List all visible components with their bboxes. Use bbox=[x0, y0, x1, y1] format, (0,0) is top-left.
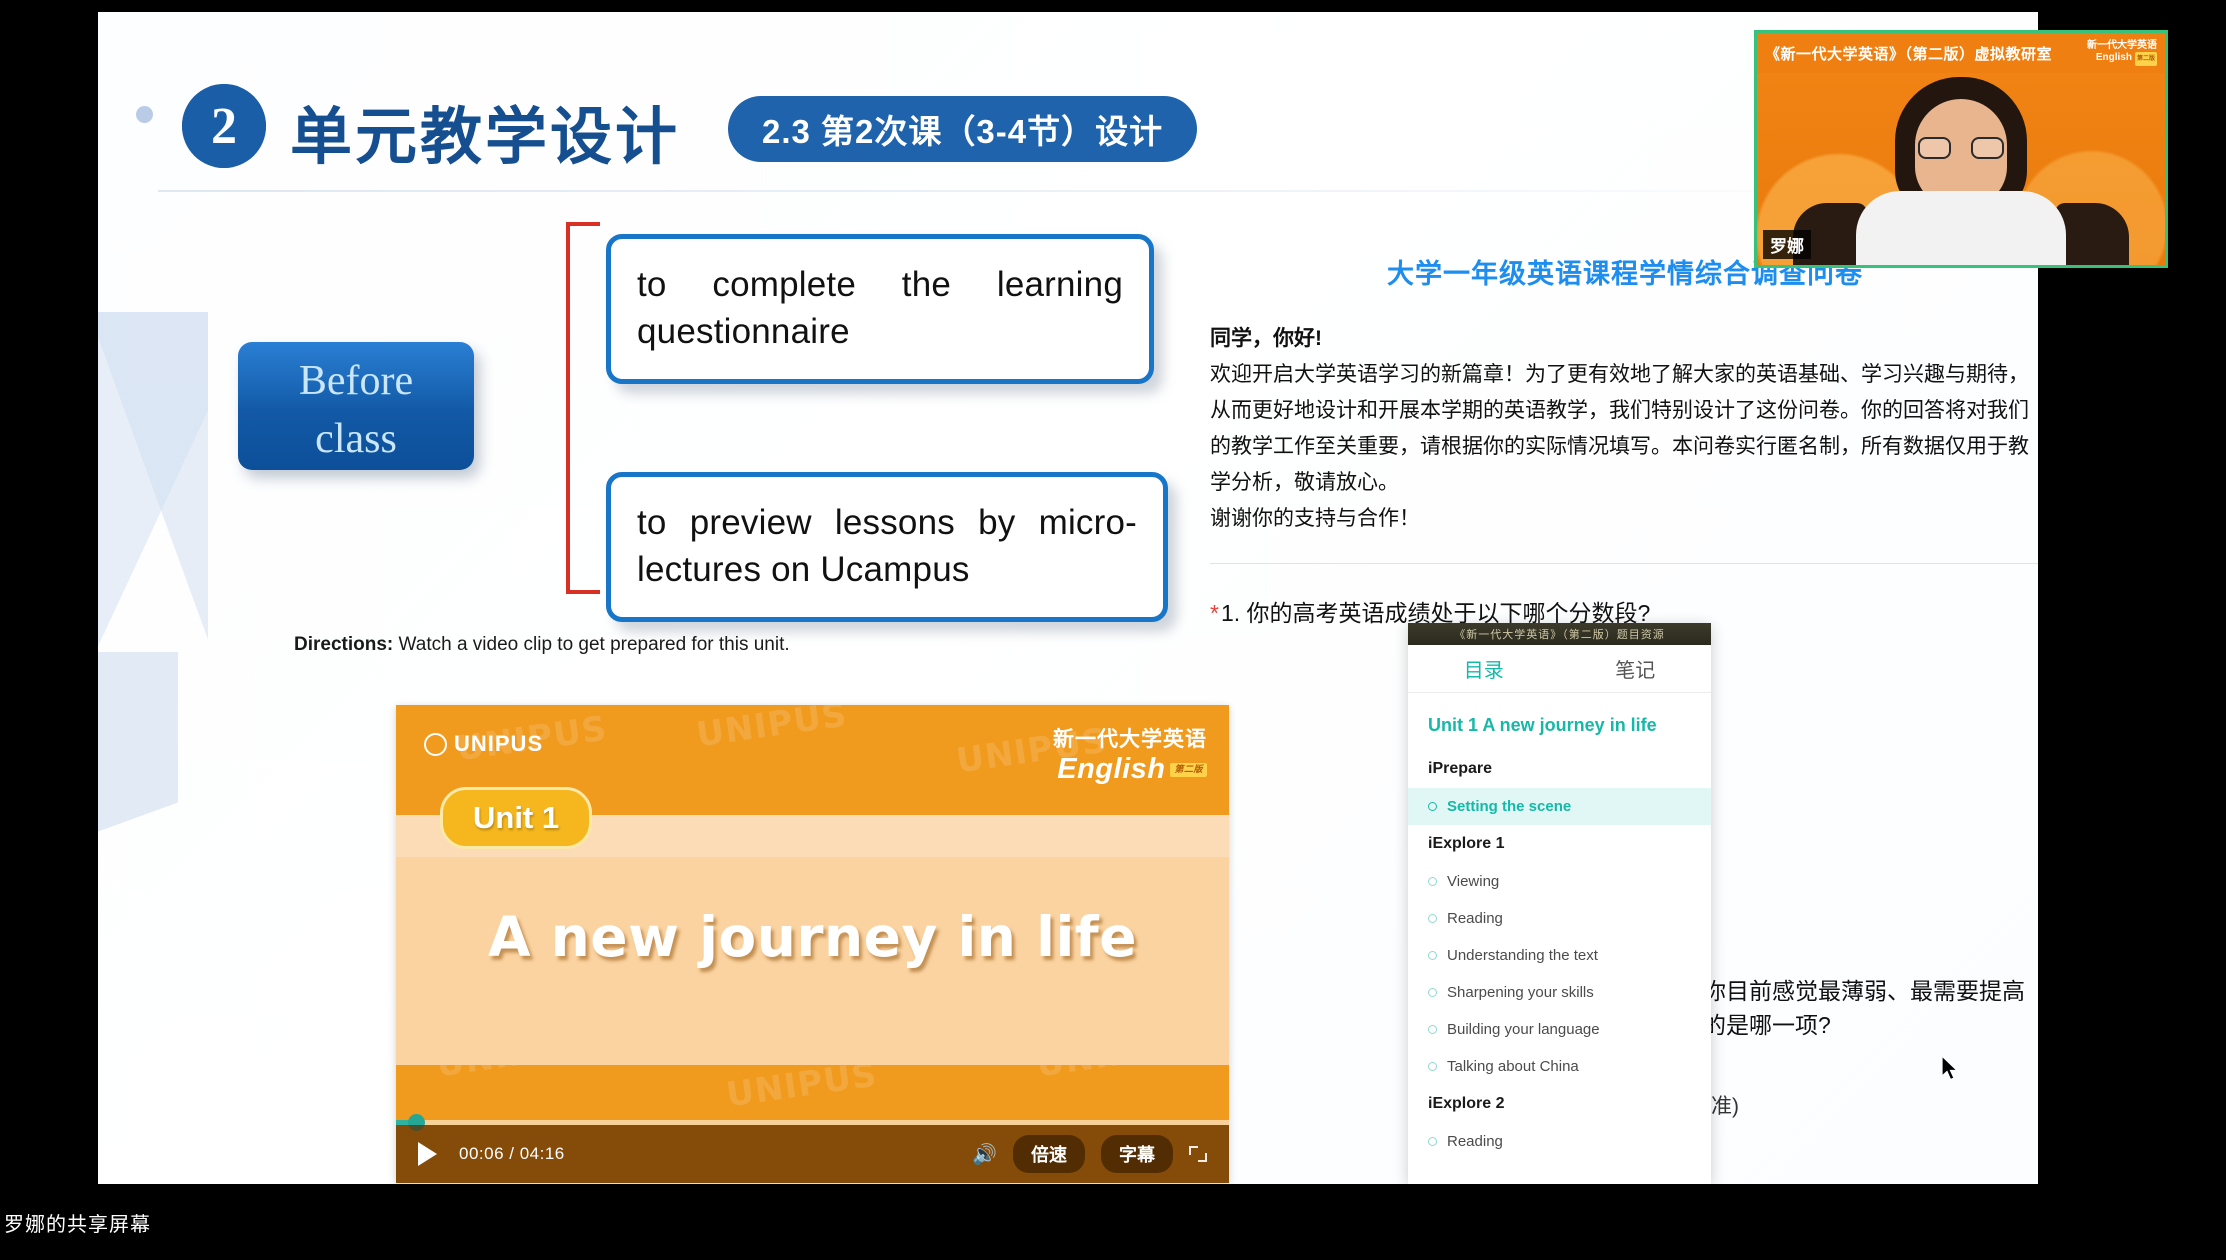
slide-header: 2 单元教学设计 2.3 第2次课（3-4节）设计 bbox=[98, 70, 2038, 198]
toc-item-reading-2[interactable]: Reading bbox=[1408, 1123, 1711, 1160]
ienglish-cn: 新一代大学英语 bbox=[1053, 723, 1207, 753]
questionnaire-paragraph: 欢迎开启大学英语学习的新篇章！为了更有效地了解大家的英语基础、学习兴趣与期待，从… bbox=[1210, 357, 2038, 501]
stage-label-line2: class bbox=[238, 410, 474, 468]
toc-item-setting-the-scene[interactable]: Setting the scene bbox=[1408, 788, 1711, 825]
ienglish-en: English bbox=[1057, 753, 1165, 785]
directions-label: Directions: bbox=[294, 634, 393, 655]
questionnaire-divider bbox=[1210, 563, 2038, 564]
video-unit-chip: Unit 1 bbox=[440, 787, 592, 849]
toc-item-label: Talking about China bbox=[1447, 1058, 1579, 1075]
questionnaire-panel: 大学一年级英语课程学情综合调查问卷 同学，你好! 欢迎开启大学英语学习的新篇章！… bbox=[1210, 252, 2038, 628]
questionnaire-extra-question: 你目前感觉最薄弱、最需要提高的是哪一项? bbox=[1703, 972, 2038, 1040]
unipus-ring-icon bbox=[424, 733, 447, 756]
directions-text: Watch a video clip to get prepared for t… bbox=[399, 634, 790, 655]
play-icon[interactable] bbox=[418, 1142, 437, 1166]
red-bracket bbox=[566, 222, 600, 594]
callout-box-task-2: to preview lessons by micro-lectures on … bbox=[606, 472, 1168, 622]
frame-left bbox=[0, 0, 98, 1260]
toc-tabs: 目录 笔记 bbox=[1408, 645, 1711, 693]
ienglish-edition-chip: 第二版 bbox=[1170, 763, 1207, 777]
circle-icon bbox=[1428, 1137, 1437, 1146]
presenter-name-label: 罗娜 bbox=[1763, 230, 1811, 259]
webcam-brand-en: English bbox=[2096, 52, 2132, 63]
questionnaire-greeting: 同学，你好! bbox=[1210, 321, 2038, 357]
required-mark: * bbox=[1210, 600, 1219, 626]
toc-unit-title[interactable]: Unit 1 A new journey in life bbox=[1408, 707, 1711, 750]
webcam-banner: 《新一代大学英语》（第二版）虚拟教研室 新一代大学英语 English第二版 bbox=[1757, 33, 2165, 73]
circle-icon bbox=[1428, 1025, 1437, 1034]
screen-share-window: 2 单元教学设计 2.3 第2次课（3-4节）设计 Before class t… bbox=[0, 0, 2226, 1260]
circle-icon bbox=[1428, 802, 1437, 811]
toc-item-building-your-language[interactable]: Building your language bbox=[1408, 1011, 1711, 1048]
watermark: UNIPUS bbox=[694, 705, 850, 755]
course-contents-panel[interactable]: 《新一代大学英语》（第二版）题目资源 目录 笔记 Unit 1 A new jo… bbox=[1408, 623, 1711, 1184]
webcam-brand-cn: 新一代大学英语 bbox=[2087, 40, 2157, 52]
bullet-dot-icon bbox=[136, 106, 153, 123]
toc-item-label: Setting the scene bbox=[1447, 798, 1571, 815]
questionnaire-text-fragment: 准) bbox=[1711, 1090, 1739, 1120]
stage-label-line1: Before bbox=[238, 352, 474, 410]
circle-icon bbox=[1428, 1062, 1437, 1071]
circle-icon bbox=[1428, 951, 1437, 960]
volume-icon[interactable]: 🔊 bbox=[972, 1142, 997, 1167]
circle-icon bbox=[1428, 877, 1437, 886]
toc-item-label: Viewing bbox=[1447, 873, 1499, 890]
header-divider bbox=[158, 190, 1998, 192]
toc-item-label: Reading bbox=[1447, 1133, 1503, 1150]
glasses-icon bbox=[1918, 137, 2004, 159]
toc-item-label: Reading bbox=[1447, 910, 1503, 927]
tab-notes[interactable]: 笔记 bbox=[1560, 645, 1712, 692]
video-player[interactable]: UNIPUS UNIPUS UNIPUS UNIPUS UNIPUS UNIPU… bbox=[396, 705, 1229, 1183]
fullscreen-icon[interactable] bbox=[1189, 1146, 1207, 1162]
callout-text-1: to complete the learning questionnaire bbox=[637, 261, 1123, 355]
frame-top bbox=[0, 0, 2226, 12]
stage-label-before-class: Before class bbox=[238, 342, 474, 470]
callout-text-2: to preview lessons by micro-lectures on … bbox=[637, 499, 1137, 593]
toc-item-talking-about-china[interactable]: Talking about China bbox=[1408, 1048, 1711, 1085]
webcam-banner-brand: 新一代大学英语 English第二版 bbox=[2087, 40, 2157, 66]
slide-decoration-secondary bbox=[98, 652, 178, 982]
video-control-bar: 00:06 / 04:16 🔊 倍速 字幕 bbox=[396, 1125, 1229, 1183]
page-title: 单元教学设计 bbox=[290, 86, 680, 176]
toc-section-iprepare[interactable]: iPrepare bbox=[1408, 750, 1711, 788]
directions-line: Directions: Watch a video clip to get pr… bbox=[294, 634, 790, 656]
subtitle-button[interactable]: 字幕 bbox=[1101, 1135, 1173, 1173]
video-title: A new journey in life bbox=[396, 905, 1229, 969]
toc-item-label: Sharpening your skills bbox=[1447, 984, 1594, 1001]
circle-icon bbox=[1428, 988, 1437, 997]
subsection-pill: 2.3 第2次课（3-4节）设计 bbox=[728, 96, 1197, 162]
share-status-label: 罗娜的共享屏幕 bbox=[4, 1208, 151, 1237]
presenter-torso bbox=[1856, 191, 2066, 265]
playback-speed-button[interactable]: 倍速 bbox=[1013, 1135, 1085, 1173]
questionnaire-closing: 谢谢你的支持与合作！ bbox=[1210, 501, 2038, 537]
webcam-overlay[interactable]: 《新一代大学英语》（第二版）虚拟教研室 新一代大学英语 English第二版 罗… bbox=[1754, 30, 2168, 268]
webcam-brand-chip: 第二版 bbox=[2135, 52, 2157, 66]
presentation-slide: 2 单元教学设计 2.3 第2次课（3-4节）设计 Before class t… bbox=[98, 12, 2038, 1184]
toc-section-iexplore-2[interactable]: iExplore 2 bbox=[1408, 1085, 1711, 1123]
toc-item-understanding-the-text[interactable]: Understanding the text bbox=[1408, 937, 1711, 974]
callout-box-task-1: to complete the learning questionnaire bbox=[606, 234, 1154, 384]
unipus-wordmark: UNIPUS bbox=[454, 731, 543, 757]
tab-contents[interactable]: 目录 bbox=[1408, 645, 1560, 692]
unipus-logo: UNIPUS bbox=[424, 731, 543, 757]
toc-list: Unit 1 A new journey in life iPrepare Se… bbox=[1408, 693, 1711, 1160]
presenter-shoulder-right bbox=[2055, 203, 2129, 265]
toc-section-iexplore-1[interactable]: iExplore 1 bbox=[1408, 825, 1711, 863]
toc-item-label: Understanding the text bbox=[1447, 947, 1598, 964]
questionnaire-body: 同学，你好! 欢迎开启大学英语学习的新篇章！为了更有效地了解大家的英语基础、学习… bbox=[1210, 321, 2038, 537]
webcam-banner-title: 《新一代大学英语》（第二版）虚拟教研室 bbox=[1765, 43, 2052, 64]
circle-icon bbox=[1428, 914, 1437, 923]
toc-item-reading[interactable]: Reading bbox=[1408, 900, 1711, 937]
toc-item-viewing[interactable]: Viewing bbox=[1408, 863, 1711, 900]
share-status-bar: 罗娜的共享屏幕 bbox=[0, 1184, 2226, 1260]
section-number-badge: 2 bbox=[182, 84, 266, 168]
ienglish-logo: 新一代大学英语 English第二版 bbox=[1053, 723, 1207, 786]
toc-item-label: Building your language bbox=[1447, 1021, 1600, 1038]
video-time-display: 00:06 / 04:16 bbox=[459, 1144, 565, 1164]
toc-item-sharpening-your-skills[interactable]: Sharpening your skills bbox=[1408, 974, 1711, 1011]
toc-topbar: 《新一代大学英语》（第二版）题目资源 bbox=[1408, 623, 1711, 645]
